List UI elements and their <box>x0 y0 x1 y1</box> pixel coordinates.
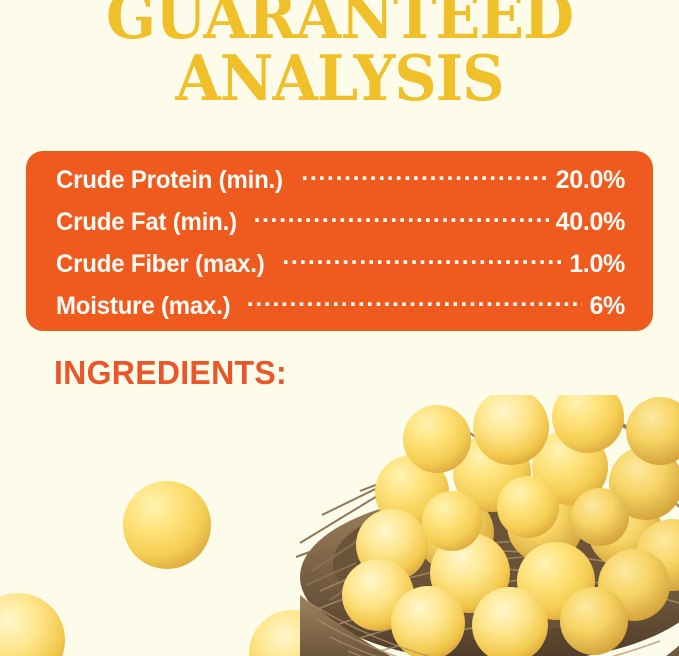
product-photo <box>0 395 679 656</box>
title-line-analysis: ANALYSIS <box>24 48 655 108</box>
nest-with-yolks-illustration <box>0 395 679 656</box>
nutrient-value: 20.0% <box>556 166 625 195</box>
page-title: GUARANTEED ANALYSIS <box>0 0 679 109</box>
nutrient-label: Moisture (max.) <box>56 292 230 321</box>
dot-leader <box>253 205 548 230</box>
nutrient-label: Crude Fat (min.) <box>56 208 237 237</box>
nutrient-value: 6% <box>589 292 625 321</box>
dot-leader <box>282 247 562 272</box>
guaranteed-analysis-panel: Crude Protein (min.) 20.0% Crude Fat (mi… <box>26 151 653 331</box>
table-row: Crude Fat (min.) 40.0% <box>56 205 625 247</box>
ingredients-heading: INGREDIENTS: <box>54 355 287 391</box>
title-line-guaranteed: GUARANTEED <box>24 0 655 46</box>
nutrient-label: Crude Protein (min.) <box>56 166 283 195</box>
nutrient-label: Crude Fiber (max.) <box>56 250 265 279</box>
table-row: Moisture (max.) 6% <box>56 289 625 331</box>
table-row: Crude Protein (min.) 20.0% <box>56 163 625 205</box>
table-row: Crude Fiber (max.) 1.0% <box>56 247 625 289</box>
nutrient-value: 40.0% <box>556 208 625 237</box>
product-label-page: GUARANTEED ANALYSIS Crude Protein (min.)… <box>0 0 679 656</box>
dot-leader <box>247 289 583 314</box>
nutrient-value: 1.0% <box>569 250 625 279</box>
yolk-sphere <box>123 481 211 569</box>
dot-leader <box>301 163 548 188</box>
